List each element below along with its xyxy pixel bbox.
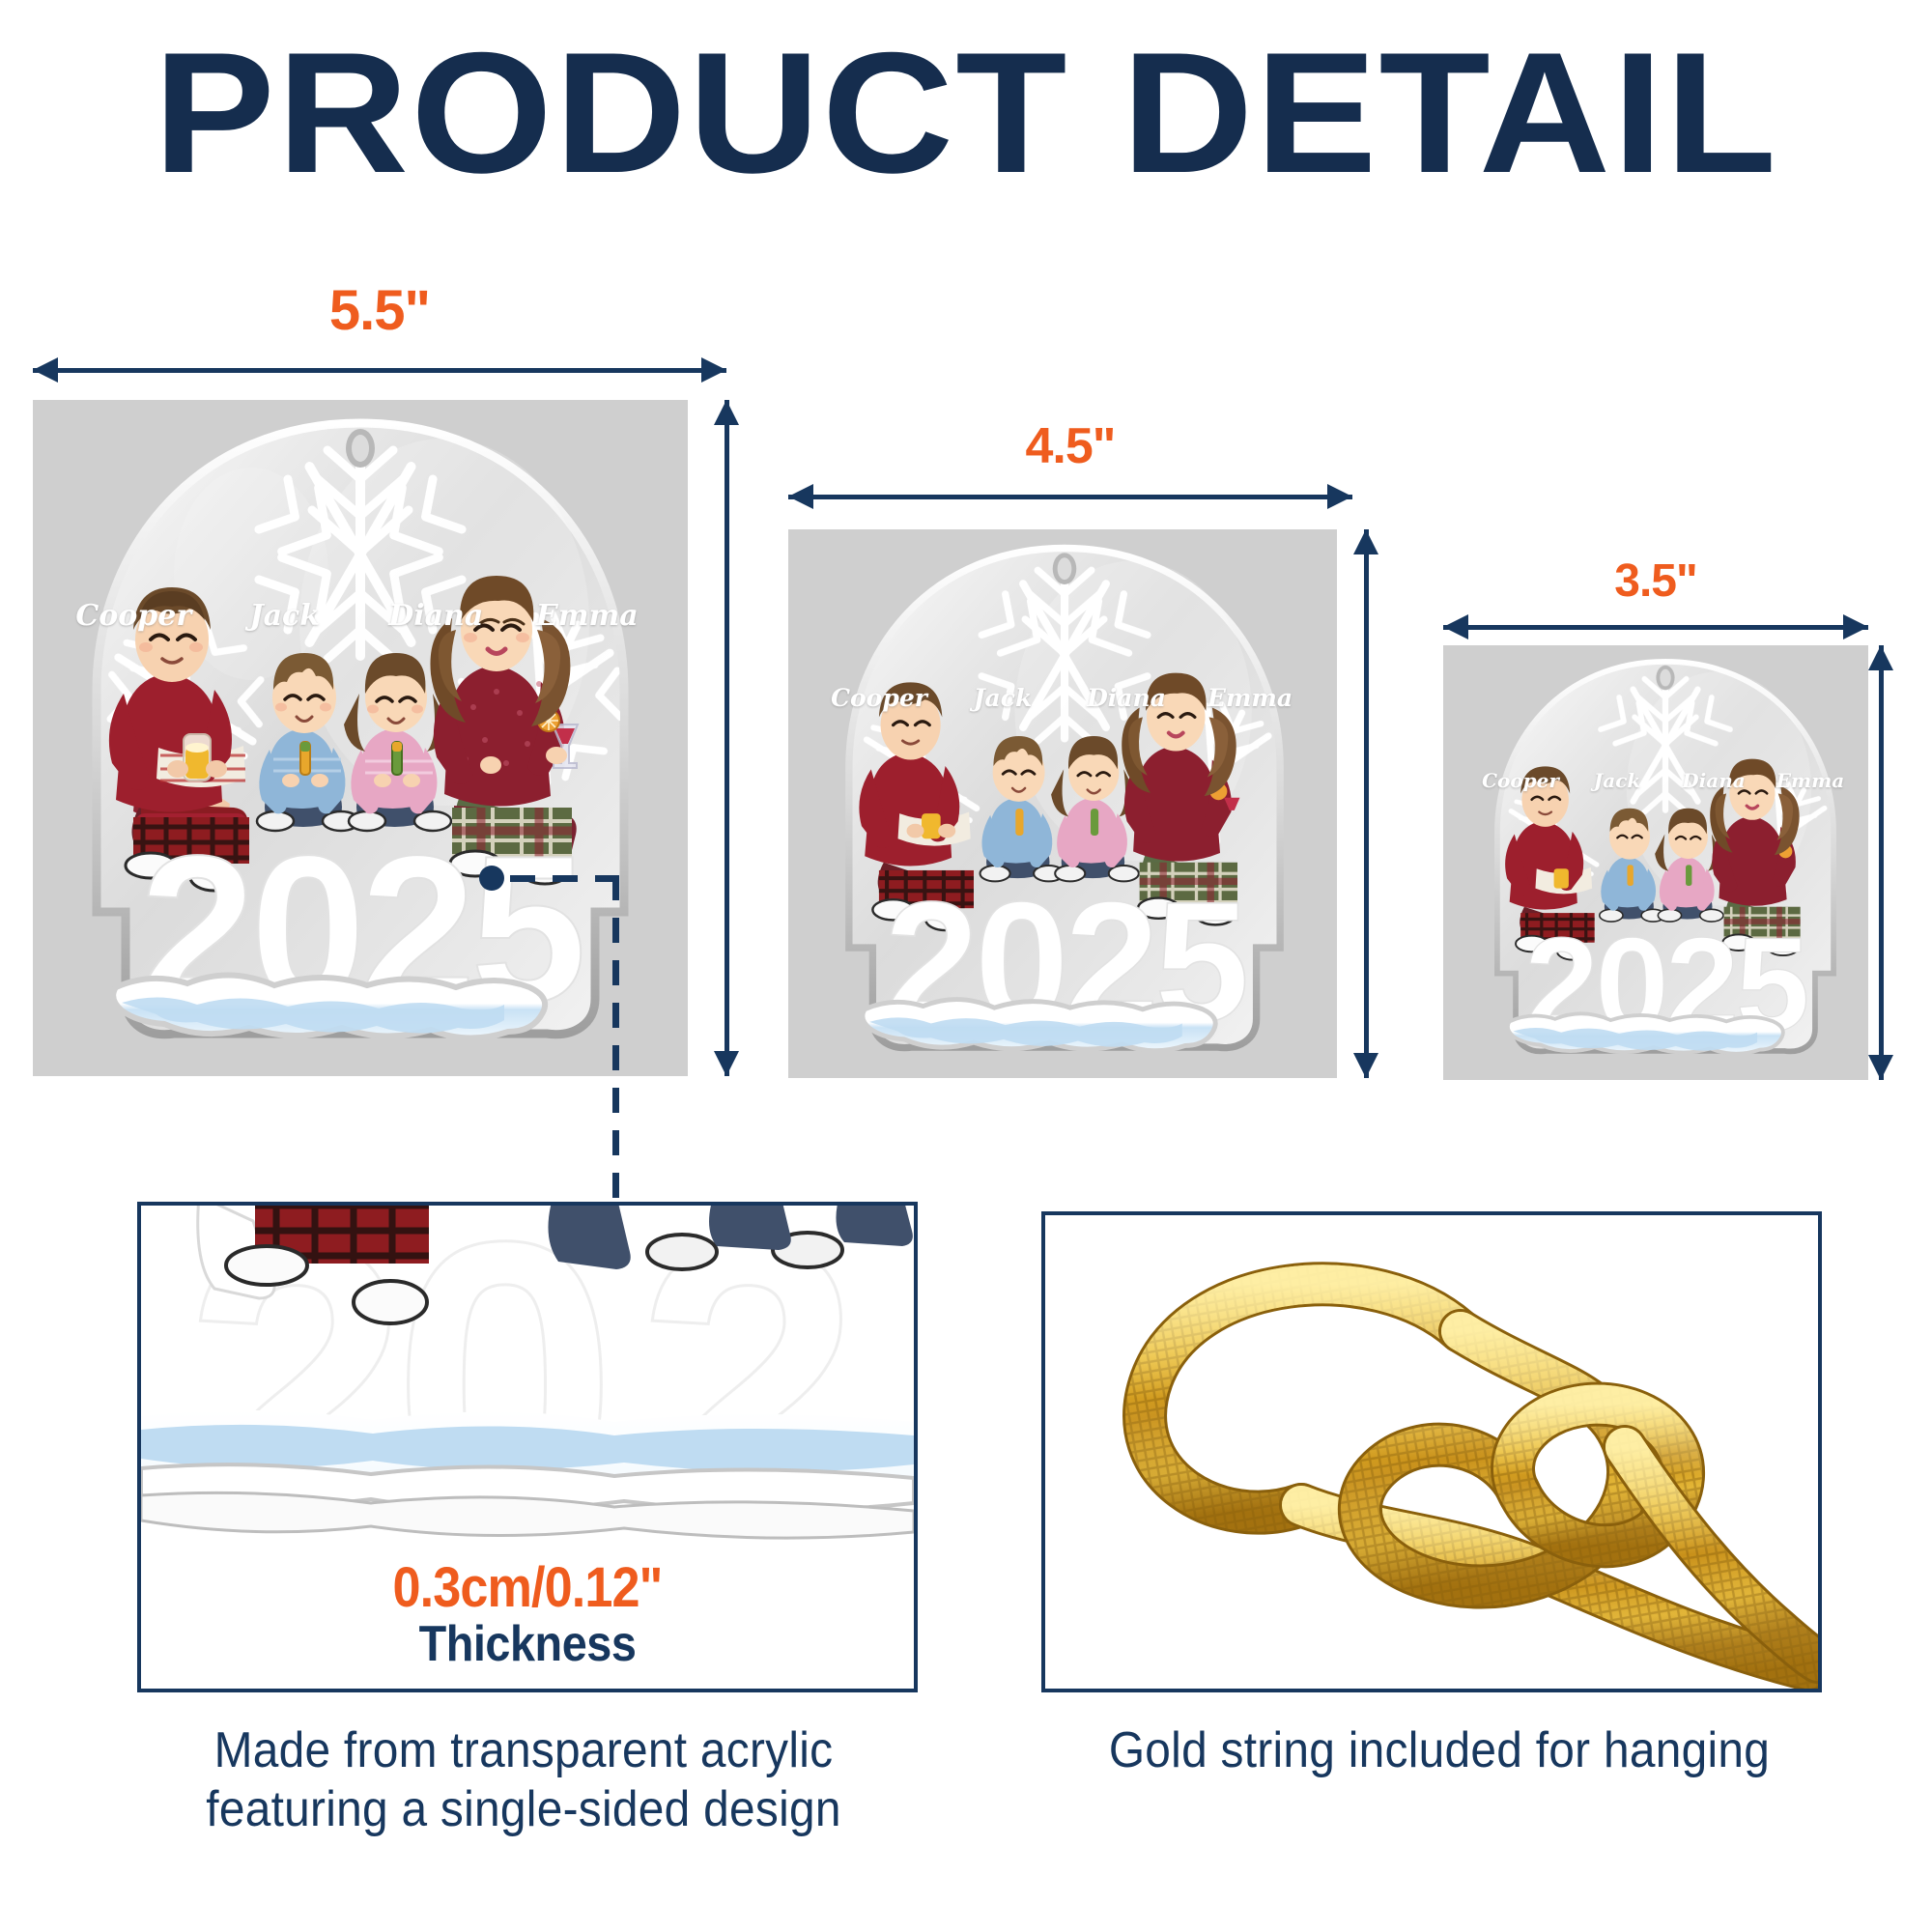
- name-cooper-medium: Cooper: [817, 684, 941, 712]
- name-row-medium: Cooper Jack Diana Emma: [817, 684, 1312, 712]
- dimension-label-medium: 4.5": [788, 417, 1352, 475]
- dimension-label-large: 5.5": [33, 278, 726, 343]
- name-cooper-small: Cooper: [1472, 769, 1569, 792]
- thickness-caption-line2: featuring a single-sided design: [132, 1780, 915, 1839]
- thickness-panel: 20 2 0.3cm/0.12" Thickness: [137, 1202, 918, 1692]
- name-emma-large: Emma: [512, 599, 664, 633]
- gold-cord-knot-image: [1045, 1215, 1818, 1689]
- gold-string-caption: Gold string included for hanging: [1039, 1721, 1839, 1780]
- dimension-arrow-horizontal-small: [1443, 614, 1868, 639]
- thickness-value: 0.3cm/0.12": [180, 1555, 875, 1620]
- name-diana-small: Diana: [1665, 769, 1762, 792]
- thickness-caption: Made from transparent acrylic featuring …: [132, 1721, 915, 1840]
- ornament-medium: 2025: [817, 537, 1312, 1082]
- dimension-arrow-horizontal-large: [33, 355, 726, 384]
- page-title: PRODUCT DETAIL: [0, 27, 1932, 199]
- dimension-arrow-vertical-medium: [1352, 529, 1379, 1078]
- name-jack-small: Jack: [1569, 769, 1665, 792]
- dimension-arrow-horizontal-medium: [788, 483, 1352, 510]
- dimension-arrow-vertical-large: [712, 400, 741, 1076]
- name-diana-medium: Diana: [1065, 684, 1188, 712]
- thickness-label: Thickness: [180, 1615, 875, 1673]
- name-diana-large: Diana: [360, 599, 512, 633]
- ornament-small: 2025: [1472, 653, 1859, 1078]
- name-row-small: Cooper Jack Diana Emma: [1472, 769, 1859, 792]
- gold-string-panel: [1041, 1211, 1822, 1692]
- name-cooper-large: Cooper: [58, 599, 210, 633]
- name-emma-medium: Emma: [1188, 684, 1312, 712]
- ornament-large: 2025: [58, 410, 663, 1076]
- thickness-caption-line1: Made from transparent acrylic: [132, 1721, 915, 1780]
- name-emma-small: Emma: [1762, 769, 1859, 792]
- callout-line-horizontal: [510, 875, 618, 882]
- callout-line-vertical: [612, 875, 619, 1206]
- name-row-large: Cooper Jack Diana Emma: [58, 599, 663, 633]
- name-jack-medium: Jack: [941, 684, 1065, 712]
- dimension-label-small: 3.5": [1443, 554, 1868, 608]
- name-jack-large: Jack: [210, 599, 361, 633]
- dimension-arrow-vertical-small: [1868, 645, 1893, 1080]
- callout-anchor-dot: [479, 866, 504, 891]
